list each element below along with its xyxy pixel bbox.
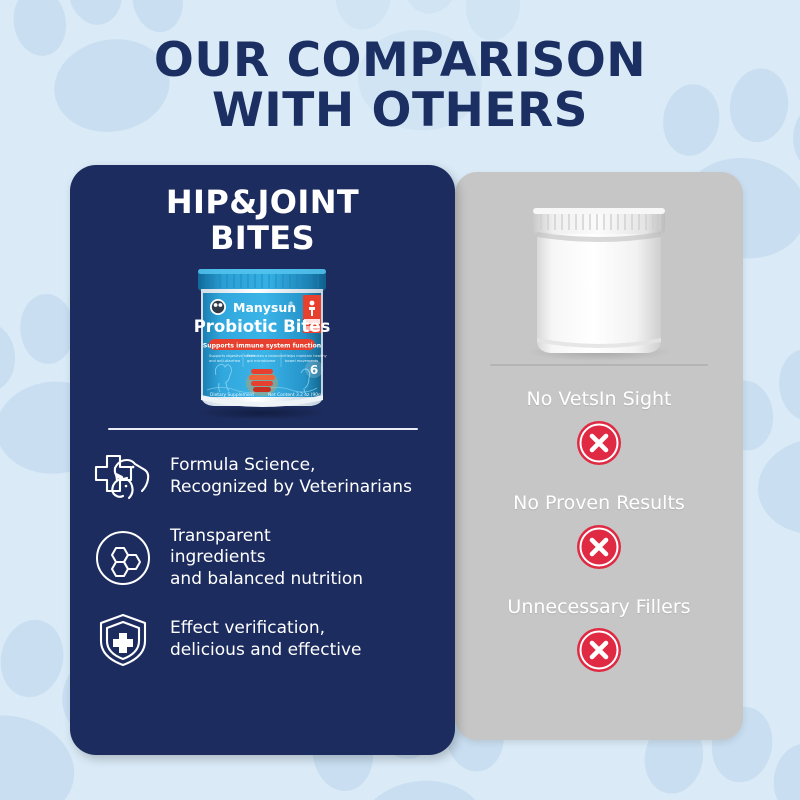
ours-divider (108, 428, 418, 430)
list-item: Formula Science, Recognized by Veterinar… (92, 446, 439, 508)
svg-text:gut microbiome: gut microbiome (247, 359, 276, 363)
vet-cross-pets-icon (92, 446, 154, 508)
list-item: Effect verification, delicious and effec… (92, 609, 439, 671)
svg-text:and anti-diarrhea: and anti-diarrhea (209, 359, 240, 363)
feature-text-line: Transparent (170, 526, 363, 548)
feature-text-line: ingredients (170, 547, 363, 569)
list-item: No VetsIn Sight (455, 388, 743, 470)
generic-white-jar-icon (455, 190, 743, 362)
list-item: Transparent ingredients and balanced nut… (92, 526, 439, 591)
svg-text:Helps maintain healthy: Helps maintain healthy (285, 354, 328, 358)
list-item: Unnecessary Fillers (455, 596, 743, 678)
page-title: OUR COMPARISON WITH OTHERS (0, 36, 800, 136)
ours-heading: HIP&JOINT BITES (70, 185, 455, 257)
feature-text-line: delicious and effective (170, 640, 361, 662)
svg-text:Probiotic Bites: Probiotic Bites (194, 317, 331, 336)
red-x-badge-icon (576, 627, 622, 673)
con-label: Unnecessary Fillers (455, 596, 743, 619)
ours-heading-line-1: HIP&JOINT (166, 183, 359, 221)
feature-text: Formula Science, Recognized by Veterinar… (170, 455, 412, 499)
page-title-line-1: OUR COMPARISON (154, 33, 646, 88)
probiotic-bites-jar-icon: Manysun ® Probiotic Bites Supports immun… (70, 263, 455, 418)
con-label: No Proven Results (455, 492, 743, 515)
ours-panel: HIP&JOINT BITES (70, 165, 455, 755)
svg-text:®: ® (288, 301, 294, 308)
comparison-infographic: OUR COMPARISON WITH OTHERS (0, 0, 800, 800)
others-product-image (455, 172, 743, 364)
feature-text: Transparent ingredients and balanced nut… (170, 526, 363, 591)
shield-cross-icon (92, 609, 154, 671)
feature-text-line: Formula Science, (170, 455, 412, 477)
svg-text:Supports immune system functio: Supports immune system function (203, 342, 321, 349)
ours-product-image: Manysun ® Probiotic Bites Supports immun… (70, 263, 455, 418)
svg-text:6: 6 (310, 363, 318, 377)
feature-text-line: Effect verification, (170, 618, 361, 640)
ours-heading-line-2: BITES (70, 221, 455, 257)
ours-features-list: Formula Science, Recognized by Veterinar… (70, 446, 455, 671)
svg-text:Promotes a balanced: Promotes a balanced (247, 354, 285, 358)
list-item: No Proven Results (455, 492, 743, 574)
molecule-hexagon-circle-icon (92, 527, 154, 589)
others-cons-list: No VetsIn Sight No Proven Results (455, 388, 743, 677)
page-title-line-2: WITH OTHERS (0, 86, 800, 136)
others-panel: No VetsIn Sight No Proven Results (455, 172, 743, 740)
red-x-badge-icon (576, 524, 622, 570)
svg-text:Dietary Supplement: Dietary Supplement (210, 392, 254, 398)
feature-text-line: Recognized by Veterinarians (170, 477, 412, 499)
svg-text:Manysun: Manysun (233, 300, 296, 315)
con-label: No VetsIn Sight (455, 388, 743, 411)
feature-text: Effect verification, delicious and effec… (170, 618, 361, 662)
feature-text-line: and balanced nutrition (170, 569, 363, 591)
red-x-badge-icon (576, 420, 622, 466)
